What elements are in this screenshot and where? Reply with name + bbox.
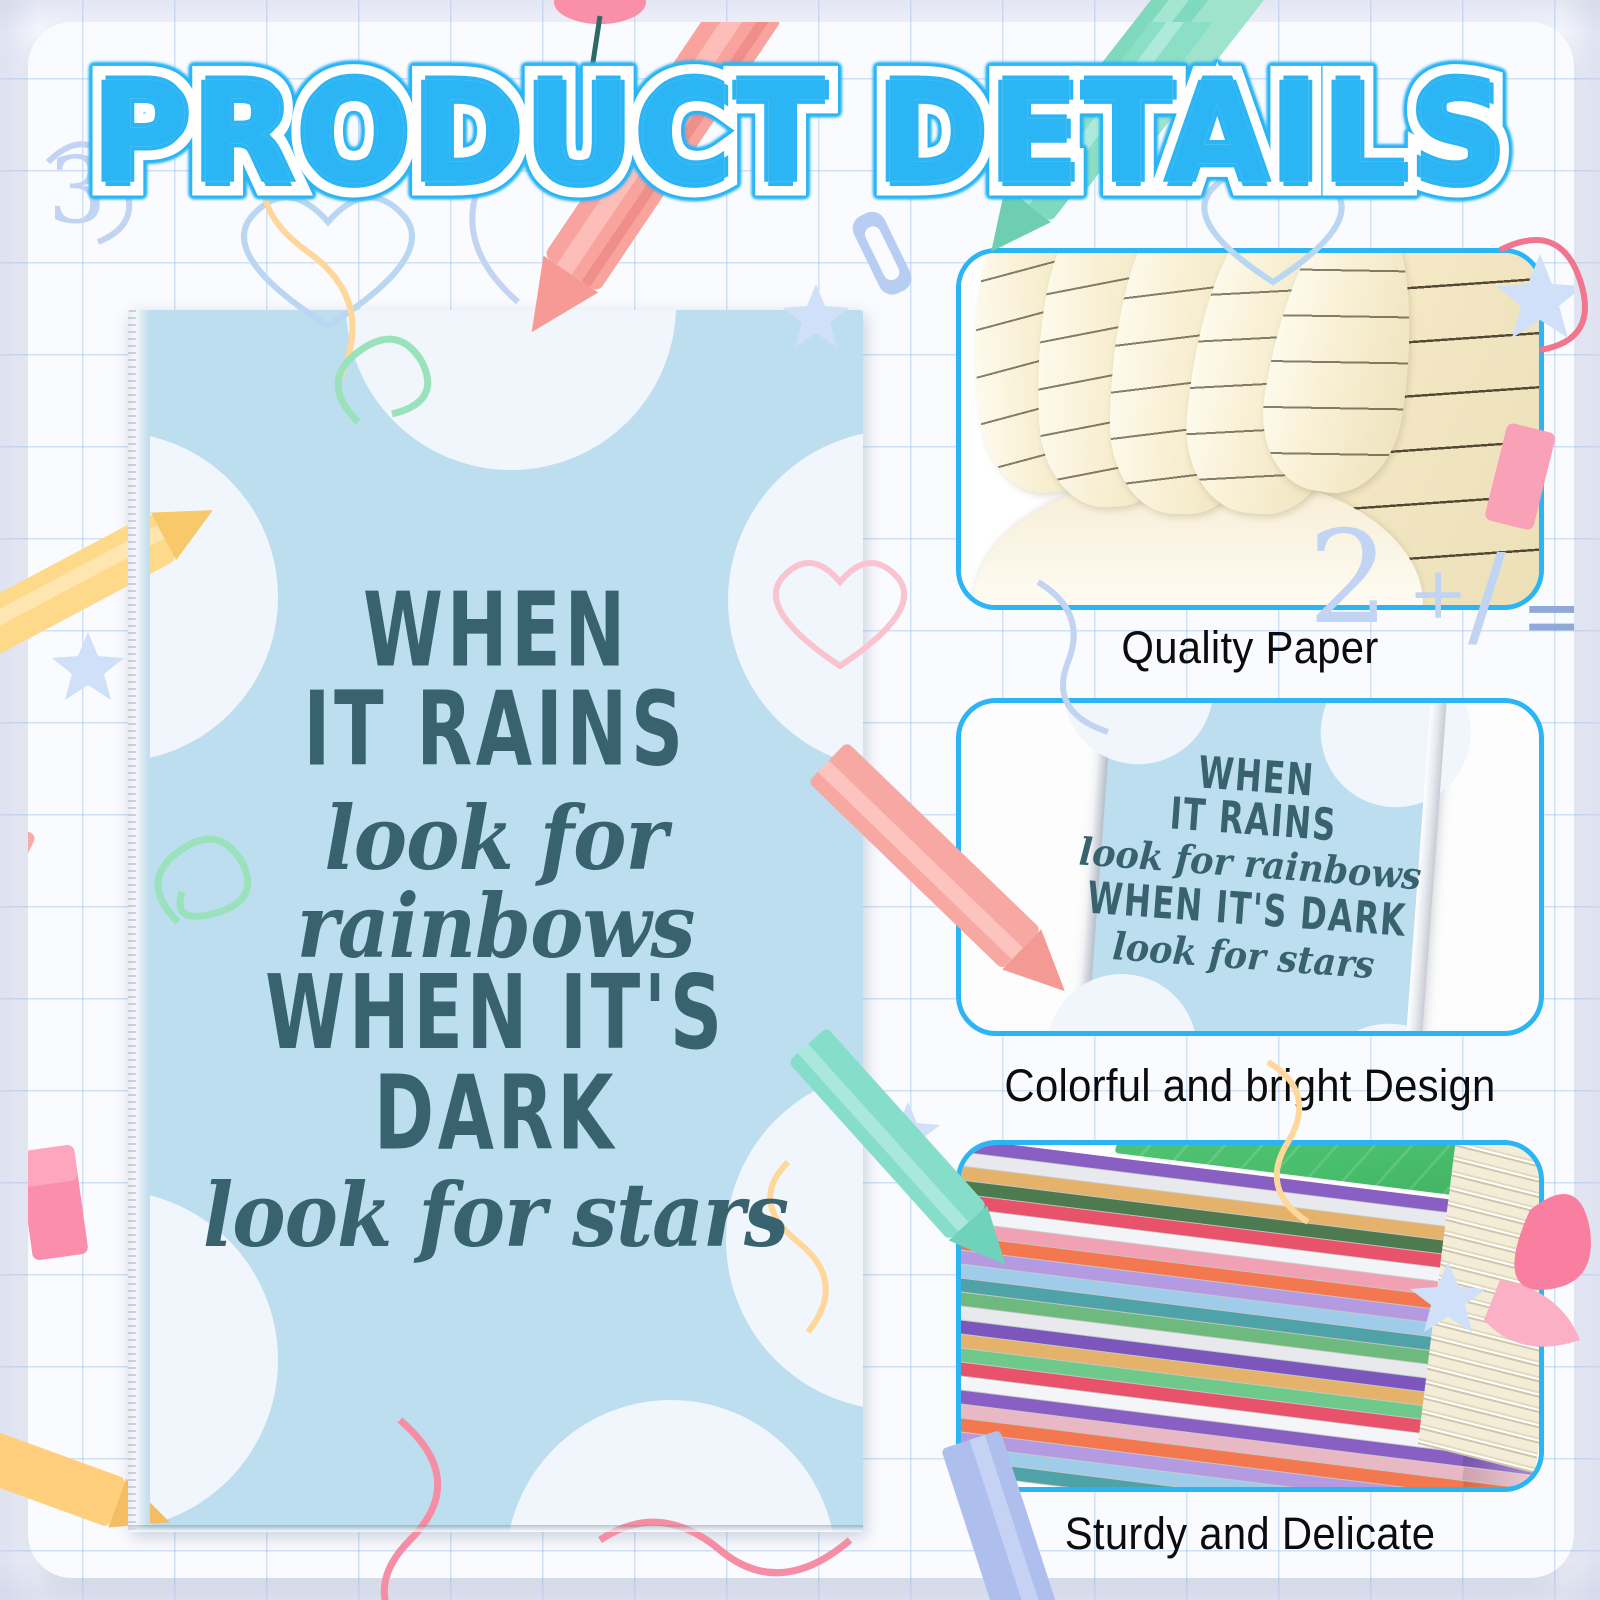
tilted-cover-quote: WHEN IT RAINS look for rainbows WHEN IT'… [956, 698, 1544, 1036]
notebook-page-edge [128, 310, 150, 1532]
cover-quote-line-5: look for stars [203, 1171, 788, 1259]
cover-quote: WHEN IT RAINS look for rainbows WHEN IT'… [128, 310, 863, 1532]
main-card-panel: 2 + / = 3 PRODUCT DETAILS [28, 22, 1574, 1578]
cover-quote-line-1: WHEN [363, 581, 629, 682]
feature-photo-quality-paper[interactable] [956, 248, 1544, 610]
feature-caption-quality-paper: Quality Paper [977, 622, 1524, 674]
notebook-bottom-edge [128, 1525, 863, 1532]
page-title: PRODUCT DETAILS [93, 64, 1508, 204]
feature-photo-colorful-design[interactable]: WHEN IT RAINS look for rainbows WHEN IT'… [956, 698, 1544, 1036]
cover-quote-line-4: WHEN IT'S DARK [167, 964, 825, 1166]
product-notebook-cover: WHEN IT RAINS look for rainbows WHEN IT'… [128, 310, 863, 1532]
cover-quote-line-3: look for rainbows [142, 794, 849, 970]
cover-quote-line-2: IT RAINS [304, 679, 687, 780]
feature-caption-sturdy-delicate: Sturdy and Delicate [977, 1508, 1524, 1560]
feature-caption-colorful-design: Colorful and bright Design [941, 1060, 1559, 1112]
notebook-stack: LA [956, 1140, 1544, 1473]
page-title-container: PRODUCT DETAILS [28, 68, 1574, 200]
feature-photo-sturdy-delicate[interactable]: LA [956, 1140, 1544, 1492]
